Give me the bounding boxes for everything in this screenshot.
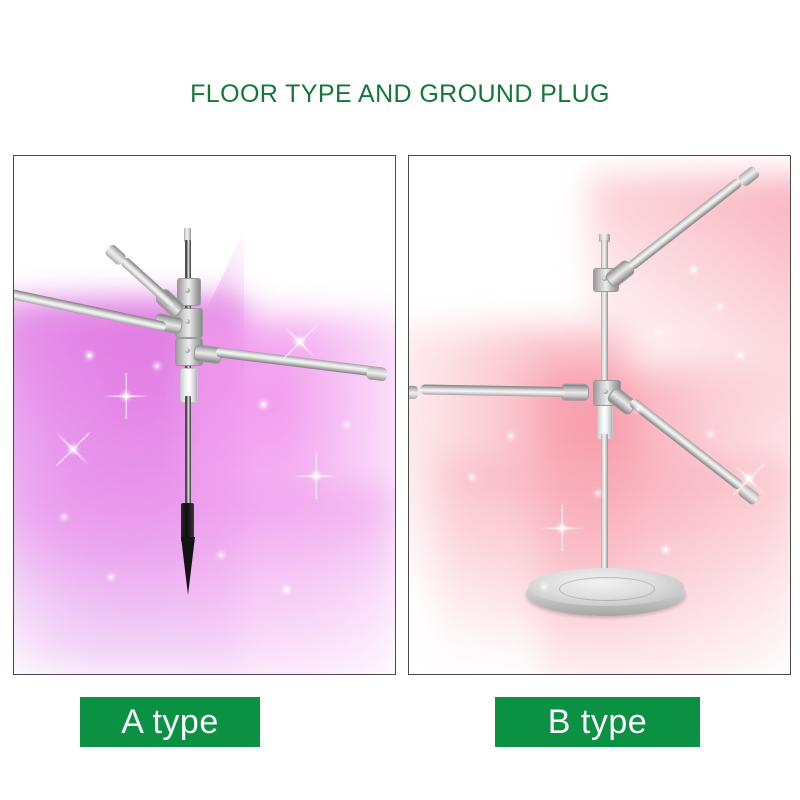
- sparkle-dot: [156, 365, 158, 367]
- ground-spike-point-a: [181, 537, 195, 595]
- sparkle-star: [560, 526, 564, 530]
- led-arm-left-cap-b: [408, 386, 418, 399]
- led-arm-lower-cap-b: [737, 483, 761, 506]
- led-arm-lower-joint-b: [606, 386, 639, 417]
- arm-joint-upper-screw-b: [602, 276, 607, 281]
- sparkle-star: [71, 447, 75, 451]
- glow-right-beam-a: [184, 316, 396, 675]
- sparkle-dot: [220, 554, 222, 556]
- badge-a-type: A type: [80, 697, 260, 747]
- led-arm-upper-joint-b: [604, 259, 637, 290]
- led-arm-right-cap-a: [366, 366, 387, 381]
- led-arm-right-joint-a: [193, 344, 223, 364]
- led-arm-upper-cap-b: [737, 165, 761, 188]
- led-arm-lower-b: [628, 397, 744, 491]
- arm-joint-middle-screw-a: [185, 319, 190, 324]
- floor-base-disc-b: [526, 572, 686, 616]
- pole-top-segment-a: [184, 228, 191, 242]
- sparkle-star: [297, 339, 302, 344]
- sparkle-dot: [285, 588, 288, 591]
- pole-lower-b: [601, 434, 608, 584]
- sparkle-dot: [664, 548, 667, 551]
- sparkle-dot: [597, 492, 599, 494]
- light-glow-a: [14, 156, 395, 674]
- pole-collar-b: [597, 394, 613, 440]
- sparkle-dot: [88, 354, 91, 357]
- product-comparison-page: FLOOR TYPE AND GROUND PLUG: [0, 0, 800, 800]
- sparkle-dot: [709, 433, 711, 435]
- led-arm-left-joint-a: [153, 312, 184, 334]
- floor-base-top-b: [528, 568, 684, 606]
- light-glow-b: [409, 156, 790, 674]
- led-arm-upper-b: [627, 177, 743, 271]
- glow-floor-wash-b: [439, 456, 791, 675]
- glow-floor-wash-a: [24, 486, 394, 675]
- sparkle-overlay-a: [14, 156, 395, 674]
- led-arm-right-a: [215, 347, 387, 378]
- pole-lower-a: [185, 396, 191, 506]
- arm-joint-lower-a: [175, 338, 203, 366]
- badge-b-type: B type: [495, 697, 700, 747]
- page-title: FLOOR TYPE AND GROUND PLUG: [0, 80, 800, 109]
- sparkle-dot: [346, 424, 348, 426]
- arm-joint-upper-a: [177, 278, 201, 306]
- glow-left-cone-a: [13, 301, 241, 631]
- sparkle-dot: [510, 435, 512, 437]
- lamp-assembly-a: [14, 156, 395, 674]
- sparkle-dot: [63, 516, 65, 518]
- pole-upper-b: [601, 240, 608, 280]
- led-arm-upper-a: [119, 256, 176, 309]
- sparkle-overlay-b: [409, 156, 790, 674]
- sparkle-dot: [739, 354, 742, 357]
- led-arm-upper-cap-a: [104, 243, 128, 266]
- floor-base-ring-b: [559, 577, 655, 601]
- sparkle-dot: [719, 306, 721, 308]
- product-panel-a-type: [13, 155, 396, 675]
- arm-joint-middle-screw-b: [603, 389, 608, 394]
- arm-joint-upper-b: [593, 268, 619, 292]
- led-arm-left-b: [420, 384, 565, 397]
- sparkle-star: [314, 474, 318, 478]
- sparkle-dot: [471, 476, 473, 478]
- pole-middle-b: [601, 282, 608, 394]
- led-arm-upper-joint-a: [154, 287, 186, 319]
- sparkle-star: [746, 476, 751, 481]
- ground-spike-body-a: [181, 503, 194, 541]
- arm-joint-middle-b: [593, 380, 621, 406]
- glow-upper-beam-b: [589, 176, 791, 436]
- lamp-assembly-b: [409, 156, 790, 674]
- arm-joint-upper-screw-a: [185, 288, 190, 293]
- pole-top-cap-b: [599, 234, 610, 242]
- sparkle-dot: [692, 268, 695, 271]
- pole-upper-a: [185, 240, 191, 380]
- sparkle-star: [124, 394, 128, 398]
- product-panel-b-type: [408, 155, 791, 675]
- glow-left-beam-b: [408, 326, 629, 626]
- glow-right-beam-b: [539, 366, 791, 675]
- pole-collar-a: [180, 368, 198, 403]
- arm-joint-middle-a: [175, 308, 203, 338]
- sparkle-dot: [658, 332, 660, 334]
- glow-upper-beam-a: [109, 231, 244, 401]
- sparkle-dot: [262, 403, 265, 406]
- arm-joint-lower-screw-a: [185, 348, 190, 353]
- sparkle-dot: [543, 586, 545, 588]
- sparkle-dot: [110, 576, 112, 578]
- glow-left-beam-a: [13, 306, 244, 675]
- sparkle-dot: [637, 408, 639, 410]
- led-arm-left-a: [13, 289, 167, 332]
- led-arm-left-joint-b: [561, 384, 589, 401]
